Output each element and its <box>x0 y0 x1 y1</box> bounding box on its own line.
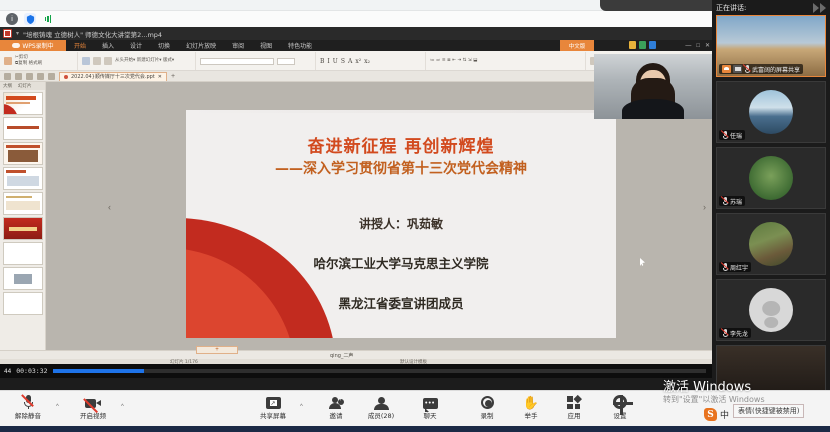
open-icon[interactable] <box>4 73 11 80</box>
participant-avatar-4 <box>749 222 793 266</box>
slide-top-band <box>186 110 616 113</box>
ribbon-group-slides: 从头开始▾ 新建幻灯片▾ 版式▾ <box>78 52 196 70</box>
tab-strip-curve <box>600 0 712 11</box>
slide-subtitle: ——深入学习贯彻省第十三次党代会精神 <box>186 158 616 178</box>
screen-icon <box>733 65 742 73</box>
slide-editing-stage: ‹ › 奋进新征程 再创新辉煌 ——深入学习贯彻省第十三次党代会精神 讲授人：巩… <box>46 82 712 350</box>
layout-icon[interactable] <box>104 57 112 65</box>
unmute-label: 解除静音 <box>15 410 41 420</box>
ribbon-tab-design[interactable]: 设计 <box>122 41 150 50</box>
meeting-app-window: i ▾ "培根铸魂 立德树人" 师德文化大讲堂第2...mp4 WPS录制中 开… <box>0 0 830 432</box>
participant-name-badge-4: 周红宇 <box>719 262 751 272</box>
invite-person-icon <box>329 397 344 409</box>
raise-hand-icon: ✋ <box>523 396 539 409</box>
ribbon-group-paragraph: ≔ ≕ ≡ ≣ ⇤ ⇥ ⇅ ⇲ ⬓ <box>426 52 586 70</box>
ime-indicator[interactable]: S 中 <box>704 408 729 421</box>
participant-name-1: 武富阔的屏幕共享 <box>752 65 800 74</box>
ribbon-tab-review[interactable]: 审阅 <box>224 41 252 50</box>
next-slide-arrow-icon[interactable]: › <box>703 202 706 212</box>
shield-icon[interactable] <box>24 13 36 25</box>
microphone-muted-icon <box>722 329 728 338</box>
raise-hand-button[interactable]: ✋ 举手 <box>508 394 554 420</box>
ppt-ribbon-tabbar: WPS录制中 开始 插入 设计 切换 幻灯片放映 审阅 视图 特色功能 <box>0 40 712 51</box>
thumbnail-slide-4[interactable] <box>3 167 43 190</box>
start-video-label: 开启视频 <box>80 410 106 420</box>
invite-button[interactable]: 邀请 <box>313 394 359 420</box>
seek-bar[interactable] <box>53 369 706 373</box>
wps-logo-icon <box>3 29 12 38</box>
paste-icon[interactable] <box>4 57 12 65</box>
ribbon-group-font <box>196 52 316 70</box>
ribbon-group-clipboard: ✂剪切⧉复制 格式刷 <box>0 52 78 70</box>
superscript-button[interactable]: x² <box>355 58 361 65</box>
participants-icon <box>374 397 389 409</box>
file-tab-close-icon[interactable]: ✕ <box>158 74 162 80</box>
signal-bars-icon[interactable] <box>42 13 54 25</box>
raise-hand-label: 举手 <box>525 410 538 420</box>
share-screen-icon: ↗ <box>266 397 281 409</box>
collapse-sidebar-icon[interactable] <box>813 3 826 13</box>
recording-badge-label: WPS录制中 <box>22 41 53 50</box>
save-icon[interactable] <box>15 73 22 80</box>
mouse-cursor-icon <box>640 258 645 266</box>
cloud-icon <box>12 43 20 48</box>
font-name-input[interactable] <box>200 58 274 65</box>
ribbon-group-font-style: B I U S A x² x₂ <box>316 52 426 70</box>
seek-bar-fill <box>53 369 144 373</box>
ppt-title-bar: ▾ "培根铸魂 立德树人" 师德文化大讲堂第2...mp4 <box>0 27 712 40</box>
ppt-window-title: "培根铸魂 立德树人" 师德文化大讲堂第2...mp4 <box>23 29 162 39</box>
participant-name-badge-1: 武富阔的屏幕共享 <box>719 64 803 74</box>
participant-tile-3[interactable]: 苏瑞 <box>716 147 826 209</box>
participant-tile-1[interactable]: 武富阔的屏幕共享 <box>716 15 826 77</box>
close-button[interactable]: ✕ <box>705 42 710 49</box>
start-video-button[interactable]: 开启视频 <box>70 394 116 420</box>
record-button[interactable]: 录制 <box>464 394 510 420</box>
slides-labels: 从头开始▾ 新建幻灯片▾ 版式▾ <box>115 58 174 64</box>
from-start-icon[interactable] <box>82 57 90 65</box>
save-button[interactable]: 中文版 <box>560 40 594 51</box>
powerpoint-window: ▾ "培根铸魂 立德树人" 师德文化大讲堂第2...mp4 WPS录制中 开始 … <box>0 27 712 364</box>
font-size-input[interactable] <box>277 58 295 65</box>
unsaved-dot-icon <box>64 75 68 79</box>
thumbnail-slide-5[interactable] <box>3 192 43 215</box>
share-screen-button[interactable]: ↗ 共享屏幕 <box>250 394 296 420</box>
new-tab-button[interactable]: + <box>171 73 175 80</box>
thumbnail-slide-7[interactable] <box>3 242 43 265</box>
thumbnail-slide-3[interactable] <box>3 142 43 165</box>
gear-icon <box>613 395 627 409</box>
participant-name-5: 李先龙 <box>730 329 748 338</box>
ribbon-quick-icons <box>629 41 656 49</box>
file-tab[interactable]: 2022.04}顺传媒厅十三次党代会.ppt ✕ <box>59 72 167 81</box>
redo-icon[interactable] <box>48 73 55 80</box>
strikethrough-button[interactable]: S <box>341 58 345 65</box>
slide-title: 奋进新征程 再创新辉煌 <box>186 132 616 157</box>
presenter-video-tile[interactable] <box>594 54 712 119</box>
thumbnail-slide-1[interactable] <box>3 92 43 115</box>
windows-taskbar[interactable] <box>0 426 830 432</box>
thumbnail-slide-8[interactable] <box>3 267 43 290</box>
sogou-logo-icon[interactable]: S <box>704 408 717 421</box>
microphone-muted-icon <box>722 131 728 140</box>
current-slide[interactable]: 奋进新征程 再创新辉煌 ——深入学习贯彻省第十三次党代会精神 讲授人：巩茹敏 哈… <box>186 110 616 338</box>
volume-level: 44 <box>4 368 11 375</box>
video-options-chevron-down-icon[interactable]: ^ <box>121 404 124 410</box>
settings-button[interactable]: 设置 <box>597 394 643 420</box>
tab-outline[interactable]: 大纲 <box>3 83 12 89</box>
thumbnail-panel-header: 大纲 幻灯片 <box>0 82 45 90</box>
browser-toolbar: i <box>0 11 712 27</box>
file-tab-label: 2022.04}顺传媒厅十三次党代会.ppt <box>71 73 155 80</box>
slide-thumbnail-panel[interactable]: 大纲 幻灯片 <box>0 82 46 350</box>
participant-tile-5[interactable]: 李先龙 <box>716 279 826 341</box>
share-options-chevron-down-icon[interactable]: ^ <box>300 404 303 410</box>
apps-label: 应用 <box>568 410 581 420</box>
clipboard-labels: ✂剪切⧉复制 格式刷 <box>15 55 42 66</box>
audio-options-chevron-down-icon[interactable]: ^ <box>56 404 59 410</box>
subscript-button[interactable]: x₂ <box>364 58 370 65</box>
apps-grid-icon <box>567 396 581 409</box>
underline-button[interactable]: U <box>333 58 338 65</box>
prev-slide-arrow-icon[interactable]: ‹ <box>108 202 111 212</box>
ribbon-tab-features[interactable]: 特色功能 <box>280 41 320 50</box>
emoji-tooltip: 表情(快捷键被禁用) <box>733 404 804 418</box>
participants-sidebar: 正在讲话: 武富阔的屏幕共享 任瑞 苏瑞 <box>712 0 830 390</box>
browser-top-strip: i <box>0 0 712 27</box>
ribbon-tab-transition[interactable]: 切换 <box>150 41 178 50</box>
invite-label: 邀请 <box>330 410 343 420</box>
participant-avatar-5 <box>749 288 793 332</box>
slide-role-line: 黑龙江省委宣讲团成员 <box>186 293 616 312</box>
recording-badge[interactable]: WPS录制中 <box>0 40 66 51</box>
chevron-down-icon[interactable]: ▾ <box>16 30 19 37</box>
bold-button[interactable]: B <box>320 58 324 65</box>
badge-green-icon[interactable] <box>639 41 646 49</box>
participant-name-badge-2: 任瑞 <box>719 130 745 140</box>
share-screen-icon <box>722 65 731 73</box>
windows-activation-title: 激活 Windows <box>663 376 751 395</box>
thumbnail-slide-2[interactable] <box>3 117 43 140</box>
microphone-muted-icon <box>744 65 750 74</box>
record-icon <box>481 396 494 409</box>
slide-affiliation-line: 哈尔滨工业大学马克思主义学院 <box>186 253 616 272</box>
participant-tile-4[interactable]: 周红宇 <box>716 213 826 275</box>
notes-text: qing_二声 <box>330 352 353 359</box>
ribbon-tab-slideshow[interactable]: 幻灯片放映 <box>178 41 224 50</box>
ribbon-tab-view[interactable]: 视图 <box>252 41 280 50</box>
ribbon-tabs: 开始 插入 设计 切换 幻灯片放映 审阅 视图 特色功能 <box>66 41 320 50</box>
participants-label: 成员(28) <box>368 410 394 420</box>
ribbon-tab-start[interactable]: 开始 <box>66 41 94 50</box>
minimize-button[interactable]: — <box>685 43 691 49</box>
add-slide-button[interactable]: + <box>196 346 238 354</box>
info-icon[interactable]: i <box>6 13 18 25</box>
slide-notes-bar[interactable]: + qing_二声 <box>0 350 712 359</box>
participant-name-3: 苏瑞 <box>730 197 742 206</box>
participants-button[interactable]: 成员(28) <box>358 394 404 420</box>
badge-blue-icon[interactable] <box>649 41 656 49</box>
participant-avatar-3 <box>749 156 793 200</box>
unmute-button[interactable]: 解除静音 <box>5 394 51 420</box>
undo-icon[interactable] <box>37 73 44 80</box>
slide-presenter-line: 讲授人：巩茹敏 <box>186 215 616 232</box>
badge-yellow-icon[interactable] <box>629 41 636 49</box>
italic-button[interactable]: I <box>327 58 329 65</box>
participant-name-2: 任瑞 <box>730 131 742 140</box>
print-icon[interactable] <box>26 73 33 80</box>
microphone-muted-icon <box>722 197 728 206</box>
ppt-window-controls: — □ ✕ <box>685 40 710 51</box>
participant-avatar-2 <box>749 90 793 134</box>
maximize-button[interactable]: □ <box>696 43 700 49</box>
chat-button[interactable]: ••• 聊天 <box>407 394 453 420</box>
participant-name-4: 周红宇 <box>730 263 748 272</box>
speaking-now-label: 正在讲话: <box>716 3 746 13</box>
ribbon-tab-insert[interactable]: 插入 <box>94 41 122 50</box>
font-color-button[interactable]: A <box>348 58 352 65</box>
participant-name-badge-3: 苏瑞 <box>719 196 745 206</box>
microphone-muted-icon <box>24 395 33 409</box>
apps-button[interactable]: 应用 <box>551 394 597 420</box>
browser-tab-strip[interactable] <box>0 0 712 11</box>
record-label: 录制 <box>481 410 494 420</box>
presenter-body <box>622 99 684 119</box>
thumbnail-slide-9[interactable] <box>3 292 43 315</box>
microphone-muted-icon <box>722 263 728 272</box>
chat-bubble-icon: ••• <box>423 398 438 409</box>
thumbnail-slide-6[interactable] <box>3 217 43 240</box>
participant-tile-2[interactable]: 任瑞 <box>716 81 826 143</box>
camera-off-icon <box>85 398 101 409</box>
participant-name-badge-5: 李先龙 <box>719 328 751 338</box>
playback-time: 00:03:32 <box>16 367 47 375</box>
paragraph-icons[interactable]: ≔ ≕ ≡ ≣ ⇤ ⇥ ⇅ ⇲ ⬓ <box>430 58 477 64</box>
video-player-bar[interactable]: 44 00:03:32 <box>0 364 712 378</box>
share-screen-label: 共享屏幕 <box>260 410 286 420</box>
sidebar-header: 正在讲话: <box>712 0 830 15</box>
new-slide-icon[interactable] <box>93 57 101 65</box>
ime-mode-label[interactable]: 中 <box>720 408 729 421</box>
tab-slides[interactable]: 幻灯片 <box>18 83 32 89</box>
